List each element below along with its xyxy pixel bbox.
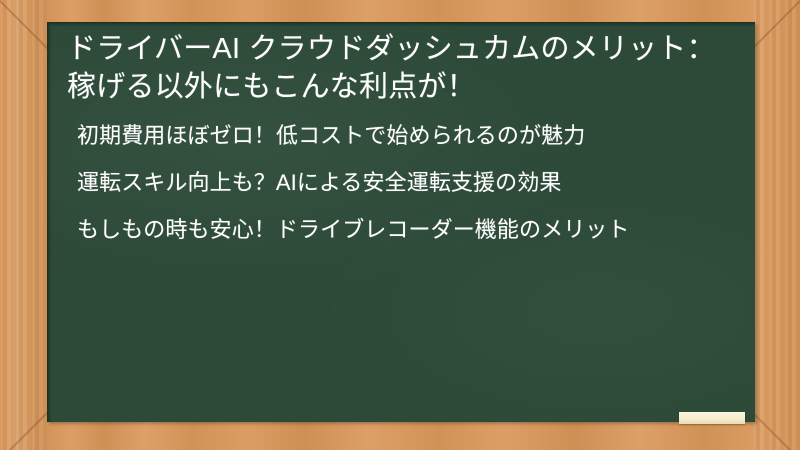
frame-miter-top-right-icon [748, 0, 800, 53]
board-title: ドライバーAI クラウドダッシュカムのメリット：稼げる以外にもこんな利点が！ [65, 22, 735, 106]
frame-miter-bottom-right-icon [748, 408, 800, 450]
wood-grain-right [753, 0, 800, 450]
frame-miter-bottom-left-icon [0, 408, 52, 450]
chalkboard-surface: ドライバーAI クラウドダッシュカムのメリット：稼げる以外にもこんな利点が！ 初… [47, 22, 755, 422]
list-item: 初期費用ほぼゼロ！低コストで始められるのが魅力 [77, 120, 723, 151]
list-item: 運転スキル向上も？AIによる安全運転支援の効果 [77, 167, 723, 198]
wood-grain-left [0, 0, 47, 450]
board-point-list: 初期費用ほぼゼロ！低コストで始められるのが魅力 運転スキル向上も？AIによる安全… [65, 120, 735, 245]
frame-miter-top-left-icon [0, 0, 52, 53]
list-item: もしもの時も安心！ドライブレコーダー機能のメリット [77, 214, 723, 245]
chalkboard-graphic: ドライバーAI クラウドダッシュカムのメリット：稼げる以外にもこんな利点が！ 初… [0, 0, 800, 450]
chalk-piece-icon [679, 412, 745, 424]
